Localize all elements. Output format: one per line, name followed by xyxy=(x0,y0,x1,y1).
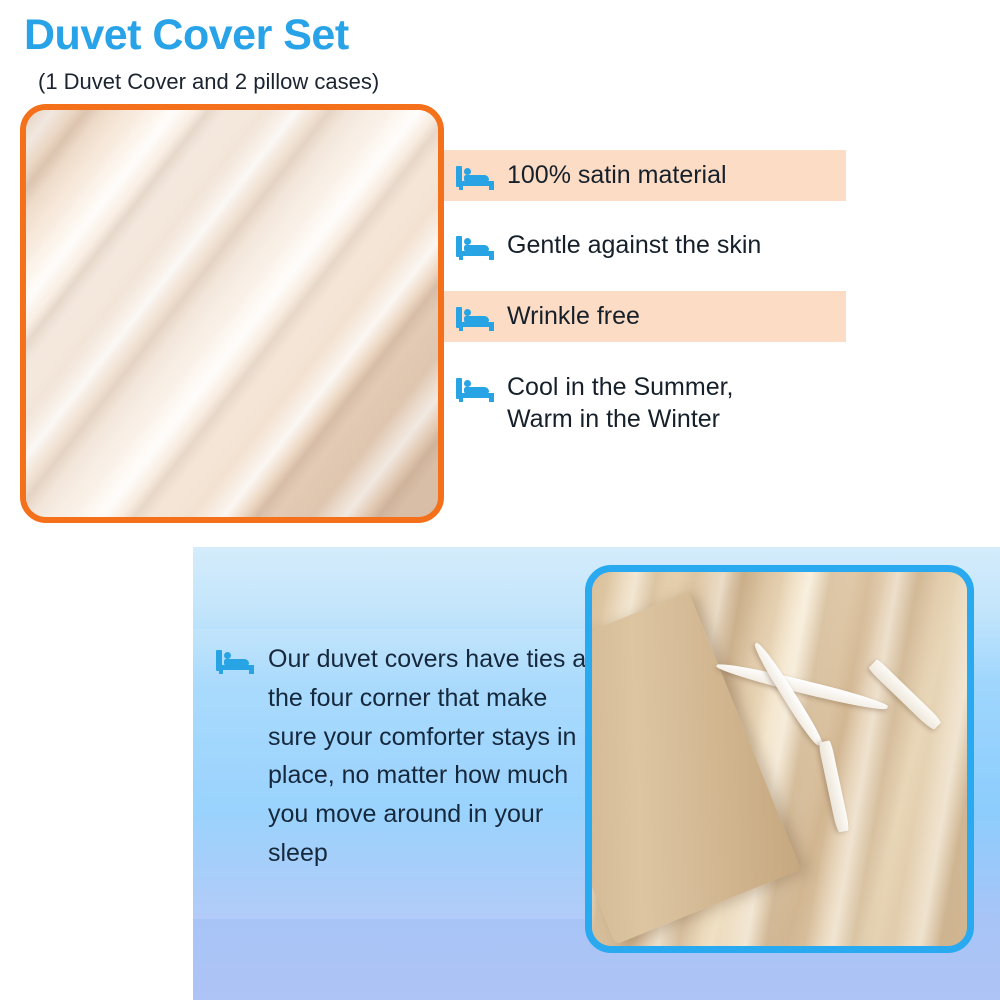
satin-fabric-photo xyxy=(20,104,444,523)
bed-icon xyxy=(456,378,496,402)
feature-label: Wrinkle free xyxy=(507,300,640,332)
ribbon-tie-upper-end xyxy=(868,659,942,732)
feature-row: Cool in the Summer, Warm in the Winter xyxy=(444,362,846,445)
satin-fabric-photo-frame xyxy=(20,104,444,523)
ribbon-tie-lower-end xyxy=(818,740,850,833)
bed-icon xyxy=(216,650,256,674)
feature-label: 100% satin material xyxy=(507,159,727,191)
corner-ties-photo-frame xyxy=(585,565,974,953)
page-subtitle: (1 Duvet Cover and 2 pillow cases) xyxy=(38,71,379,93)
header: Duvet Cover Set (1 Duvet Cover and 2 pil… xyxy=(0,0,1000,100)
bed-icon xyxy=(456,307,496,331)
corner-ties-photo xyxy=(592,572,967,946)
ties-section-panel: Our duvet covers have ties at the four c… xyxy=(193,547,1000,1000)
feature-row: Wrinkle free xyxy=(444,291,846,342)
bed-icon xyxy=(456,166,496,190)
duvet-folded-corner xyxy=(585,591,801,944)
feature-row: 100% satin material xyxy=(444,150,846,201)
ties-description: Our duvet covers have ties at the four c… xyxy=(268,640,596,873)
ties-text-row: Our duvet covers have ties at the four c… xyxy=(216,644,596,873)
feature-label: Gentle against the skin xyxy=(507,229,761,261)
feature-label: Cool in the Summer, Warm in the Winter xyxy=(507,371,734,435)
bed-icon xyxy=(456,236,496,260)
feature-row: Gentle against the skin xyxy=(444,220,846,271)
page-title: Duvet Cover Set xyxy=(24,14,349,57)
